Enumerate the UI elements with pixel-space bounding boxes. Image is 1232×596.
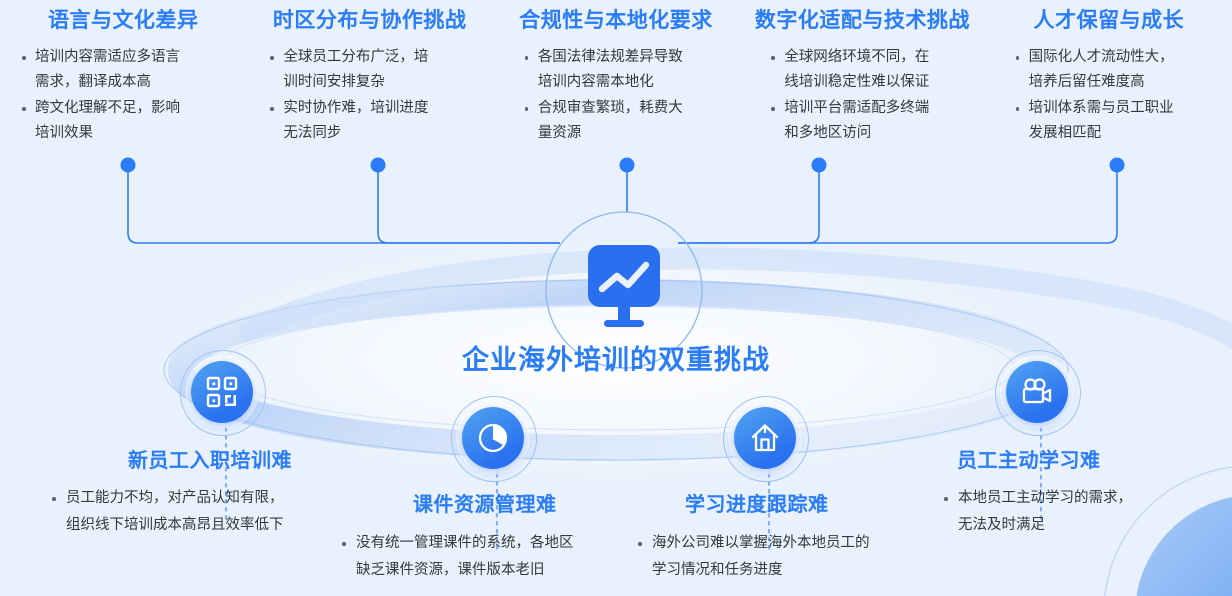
bullet-line: 员工能力不均，对产品认知有限， bbox=[46, 485, 284, 512]
qr-code-icon bbox=[205, 375, 239, 409]
bullet-line: 跨文化理解不足，影响 bbox=[35, 100, 180, 116]
pie-chart-icon bbox=[476, 421, 510, 455]
bullet-line: 本地员工主动学习的需求， bbox=[938, 485, 1132, 512]
node-icon-self-learning[interactable] bbox=[1006, 361, 1068, 423]
bullet-item: 培训体系需与员工职业 发展相匹配 bbox=[1010, 96, 1222, 146]
top-challenge-points-4: 国际化人才流动性大， 培养后留任难度高 培训体系需与员工职业 发展相匹配 bbox=[1010, 45, 1222, 146]
bullet-line: 学习情况和任务进度 bbox=[632, 557, 870, 584]
bullet-line: 合规审查繁琐，耗费大 bbox=[538, 100, 683, 116]
bullet-line: 线培训稳定性难以保证 bbox=[784, 74, 929, 90]
bottom-challenge-title-2: 学习进度跟踪难 bbox=[685, 488, 829, 517]
bottom-challenge-title-0: 新员工入职培训难 bbox=[128, 444, 292, 473]
bullet-line: 培训效果 bbox=[35, 125, 93, 141]
infographic-canvas: 语言与文化差异 培训内容需适应多语言 需求，翻译成本高 跨文化理解不足，影响 培… bbox=[0, 0, 1232, 596]
top-challenges-row: 语言与文化差异 培训内容需适应多语言 需求，翻译成本高 跨文化理解不足，影响 培… bbox=[0, 8, 1232, 158]
top-challenge-points-0: 培训内容需适应多语言 需求，翻译成本高 跨文化理解不足，影响 培训效果 bbox=[16, 45, 236, 146]
bullet-item: 全球网络环境不同，在 线培训稳定性难以保证 bbox=[765, 45, 975, 95]
connector-dots bbox=[121, 158, 1125, 173]
node-icon-new-employee-training[interactable] bbox=[191, 361, 253, 423]
top-challenge-points-1: 全球员工分布广泛，培 训时间安排复杂 实时协作难，培训进度 无法同步 bbox=[264, 45, 482, 146]
top-challenge-points-2: 各国法律法规差异导致 培训内容需本地化 合规审查繁琐，耗费大 量资源 bbox=[519, 45, 729, 146]
bullet-item: 培训平台需适配多终端 和多地区访问 bbox=[765, 96, 975, 146]
bullet-item: 培训内容需适应多语言 需求，翻译成本高 bbox=[16, 45, 236, 95]
top-challenge-card-3: 数字化适配与技术挑战 全球网络环境不同，在 线培训稳定性难以保证 培训平台需适配… bbox=[739, 8, 985, 158]
bullet-line: 全球员工分布广泛，培 bbox=[283, 49, 428, 65]
top-challenge-card-4: 人才保留与成长 国际化人才流动性大， 培养后留任难度高 培训体系需与员工职业 发… bbox=[986, 8, 1232, 158]
bullet-line: 培训平台需适配多终端 bbox=[784, 100, 929, 116]
bullet-line: 实时协作难，培训进度 bbox=[283, 100, 428, 116]
bottom-challenge-body-1: 没有统一管理课件的系统，各地区 缺乏课件资源，课件版本老旧 bbox=[336, 530, 574, 584]
bullet-line: 训时间安排复杂 bbox=[283, 74, 385, 90]
top-challenge-points-3: 全球网络环境不同，在 线培训稳定性难以保证 培训平台需适配多终端 和多地区访问 bbox=[765, 45, 975, 146]
monitor-chart-icon bbox=[576, 245, 672, 331]
top-challenge-title-2: 合规性与本地化要求 bbox=[503, 8, 729, 33]
top-challenge-card-2: 合规性与本地化要求 各国法律法规差异导致 培训内容需本地化 合规审查繁琐，耗费大… bbox=[493, 8, 739, 158]
bottom-challenge-body-2: 海外公司难以掌握海外本地员工的 学习情况和任务进度 bbox=[632, 530, 870, 584]
bullet-item: 各国法律法规差异导致 培训内容需本地化 bbox=[519, 45, 729, 95]
bottom-challenge-title-1: 课件资源管理难 bbox=[413, 488, 557, 517]
bullet-line: 各国法律法规差异导致 bbox=[538, 49, 683, 65]
video-camera-icon bbox=[1020, 375, 1054, 409]
node-icon-courseware-management[interactable] bbox=[462, 407, 524, 469]
bullet-line: 无法同步 bbox=[283, 125, 341, 141]
bullet-line: 无法及时满足 bbox=[938, 512, 1132, 539]
bullet-item: 实时协作难，培训进度 无法同步 bbox=[264, 96, 482, 146]
bullet-line: 培训内容需适应多语言 bbox=[35, 49, 180, 65]
top-challenge-title-0: 语言与文化差异 bbox=[10, 8, 236, 33]
bullet-line: 国际化人才流动性大， bbox=[1029, 49, 1174, 65]
bullet-line: 缺乏课件资源，课件版本老旧 bbox=[336, 557, 574, 584]
bullet-item: 合规审查繁琐，耗费大 量资源 bbox=[519, 96, 729, 146]
top-challenge-title-1: 时区分布与协作挑战 bbox=[256, 8, 482, 33]
bullet-line: 培训内容需本地化 bbox=[538, 74, 654, 90]
bullet-line: 需求，翻译成本高 bbox=[35, 74, 151, 90]
bottom-challenge-body-0: 员工能力不均，对产品认知有限， 组织线下培训成本高昂且效率低下 bbox=[46, 485, 284, 539]
bullet-line: 海外公司难以掌握海外本地员工的 bbox=[632, 530, 870, 557]
bullet-line: 和多地区访问 bbox=[784, 125, 871, 141]
top-challenge-title-3: 数字化适配与技术挑战 bbox=[749, 8, 975, 33]
top-challenge-title-4: 人才保留与成长 bbox=[996, 8, 1222, 33]
bullet-item: 全球员工分布广泛，培 训时间安排复杂 bbox=[264, 45, 482, 95]
bullet-line: 发展相匹配 bbox=[1029, 125, 1102, 141]
bullet-item: 国际化人才流动性大， 培养后留任难度高 bbox=[1010, 45, 1222, 95]
bullet-line: 没有统一管理课件的系统，各地区 bbox=[336, 530, 574, 557]
bullet-line: 培训体系需与员工职业 bbox=[1029, 100, 1174, 116]
home-icon bbox=[748, 421, 782, 455]
node-icon-progress-tracking[interactable] bbox=[734, 407, 796, 469]
bullet-line: 量资源 bbox=[538, 125, 582, 141]
bullet-line: 组织线下培训成本高昂且效率低下 bbox=[46, 512, 284, 539]
bottom-challenge-title-3: 员工主动学习难 bbox=[957, 444, 1101, 473]
top-challenge-card-0: 语言与文化差异 培训内容需适应多语言 需求，翻译成本高 跨文化理解不足，影响 培… bbox=[0, 8, 246, 158]
bottom-challenge-body-3: 本地员工主动学习的需求， 无法及时满足 bbox=[938, 485, 1132, 539]
bullet-line: 培养后留任难度高 bbox=[1029, 74, 1145, 90]
bullet-line: 全球网络环境不同，在 bbox=[784, 49, 929, 65]
bullet-item: 跨文化理解不足，影响 培训效果 bbox=[16, 96, 236, 146]
top-challenge-card-1: 时区分布与协作挑战 全球员工分布广泛，培 训时间安排复杂 实时协作难，培训进度 … bbox=[246, 8, 492, 158]
